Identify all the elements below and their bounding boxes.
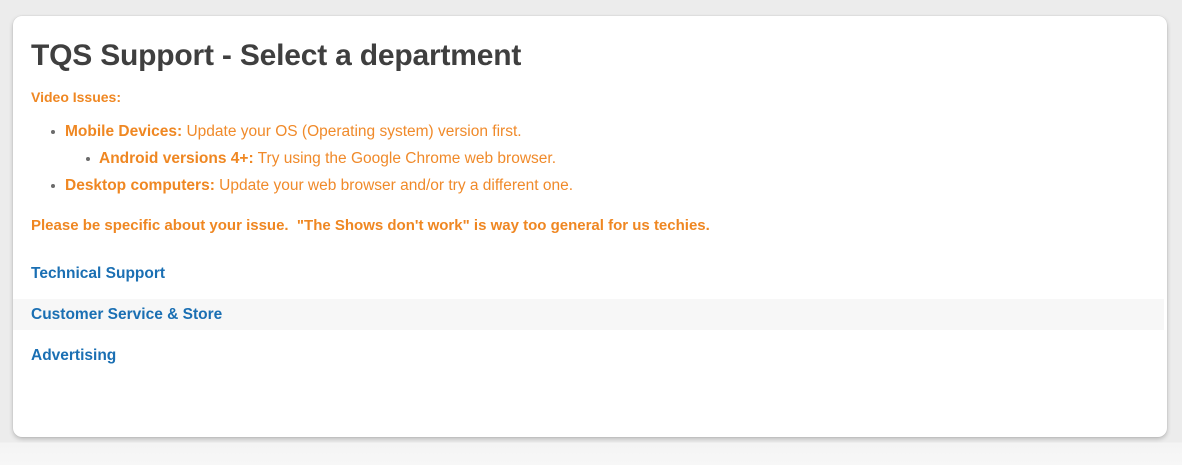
video-issues-heading: Video Issues: — [13, 88, 1167, 106]
support-card: TQS Support - Select a department Video … — [13, 16, 1167, 437]
department-link-advertising[interactable]: Advertising — [13, 340, 1167, 371]
issue-text-android-versions: Try using the Google Chrome web browser. — [254, 150, 556, 167]
issue-list: Mobile Devices: Update your OS (Operatin… — [13, 118, 1167, 199]
department-link-customer-service-store[interactable]: Customer Service & Store — [13, 299, 1164, 330]
page-background: TQS Support - Select a department Video … — [0, 0, 1182, 465]
issue-text-desktop-computers: Update your web browser and/or try a dif… — [215, 177, 573, 194]
list-item: Desktop computers: Update your web brows… — [65, 172, 1167, 199]
card-content: TQS Support - Select a department Video … — [13, 16, 1167, 371]
list-item: Android versions 4+: Try using the Googl… — [99, 145, 1167, 172]
page-title: TQS Support - Select a department — [13, 38, 1167, 74]
issue-sub-list: Android versions 4+: Try using the Googl… — [65, 145, 1167, 172]
issue-label-mobile-devices: Mobile Devices: — [65, 123, 182, 140]
be-specific-notice: Please be specific about your issue. "Th… — [13, 216, 1167, 236]
issue-label-desktop-computers: Desktop computers: — [65, 177, 215, 194]
issue-label-android-versions: Android versions 4+: — [99, 150, 254, 167]
list-item: Mobile Devices: Update your OS (Operatin… — [65, 118, 1167, 172]
issue-text-mobile-devices: Update your OS (Operating system) versio… — [182, 123, 521, 140]
department-link-technical-support[interactable]: Technical Support — [13, 258, 1167, 289]
department-list: Technical Support Customer Service & Sto… — [13, 258, 1167, 371]
